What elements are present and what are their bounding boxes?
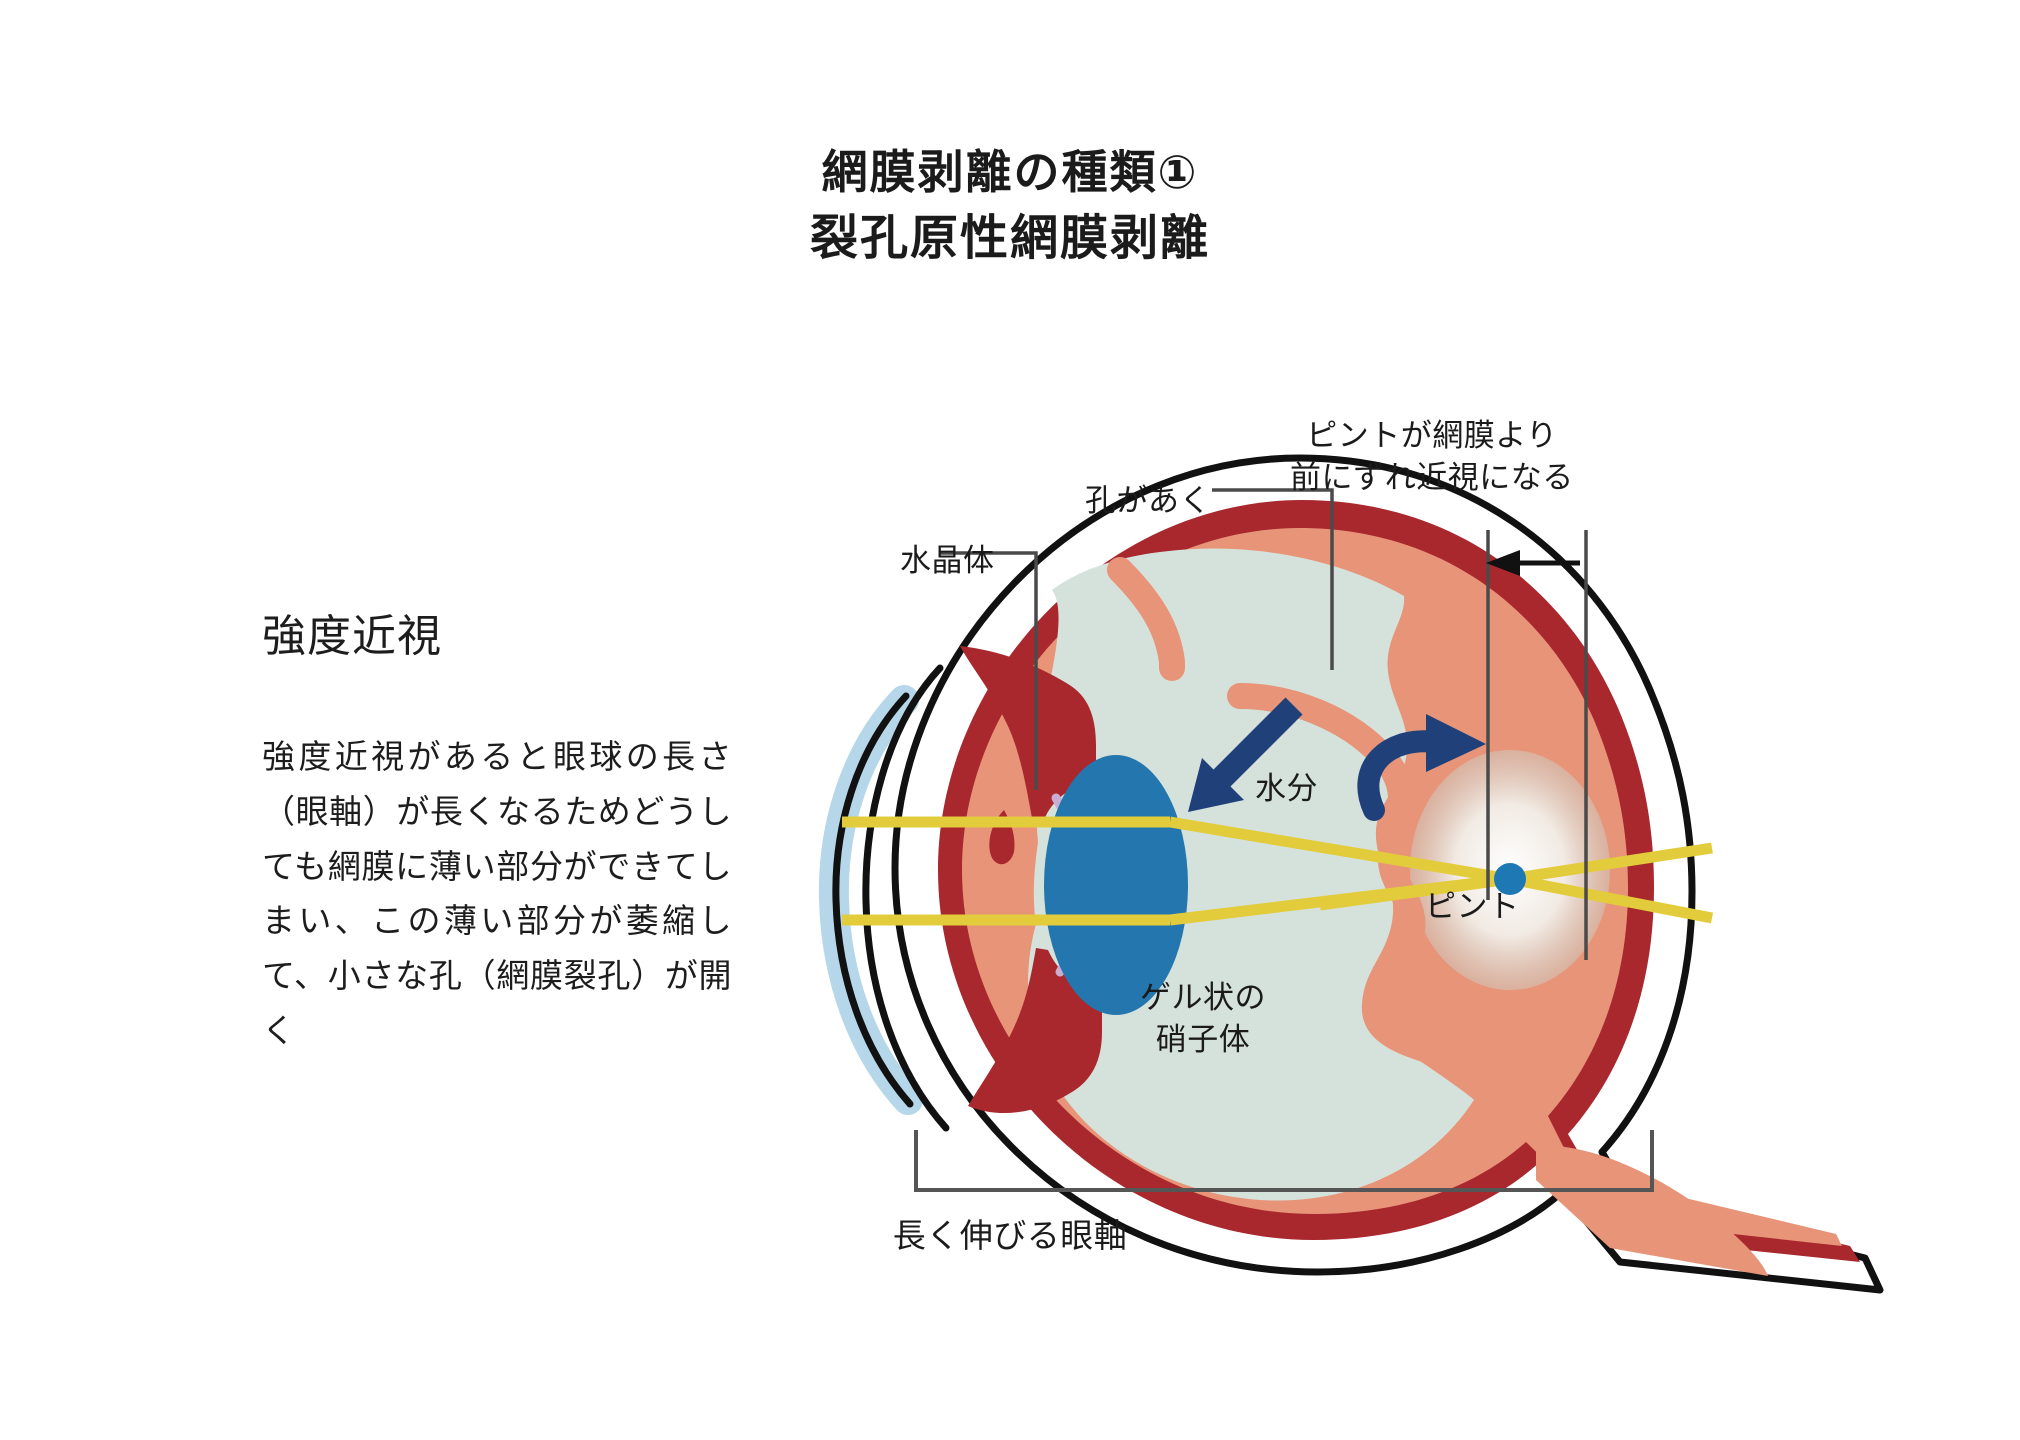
label-vitreous-line1: ゲル状の bbox=[1140, 977, 1266, 1019]
explanation-body: 強度近視があると眼球の長さ（眼軸）が長くなるためどうしても網膜に薄い部分ができて… bbox=[262, 730, 732, 1059]
label-focus-shift: ピントが網膜より 前にずれ近視になる bbox=[1290, 415, 1574, 499]
label-vitreous: ゲル状の 硝子体 bbox=[1140, 977, 1266, 1060]
lens bbox=[1044, 755, 1188, 1015]
explanation-heading: 強度近視 bbox=[262, 600, 732, 664]
title-line-1: 網膜剥離の種類① bbox=[0, 140, 2020, 205]
label-vitreous-line2: 硝子体 bbox=[1140, 1019, 1266, 1061]
label-lens: 水晶体 bbox=[900, 540, 995, 582]
label-retinal-hole: 孔があく bbox=[1085, 480, 1211, 522]
eye-anatomy-diagram bbox=[820, 400, 1980, 1300]
label-focus-shift-line1: ピントが網膜より bbox=[1290, 415, 1574, 457]
page-title: 網膜剥離の種類① 裂孔原性網膜剥離 bbox=[0, 140, 2020, 273]
label-focus-point: ピント bbox=[1425, 886, 1520, 928]
explanation-panel: 強度近視 強度近視があると眼球の長さ（眼軸）が長くなるためどうしても網膜に薄い部… bbox=[262, 600, 732, 1059]
label-water: 水分 bbox=[1255, 768, 1318, 810]
title-line-2: 裂孔原性網膜剥離 bbox=[0, 205, 2020, 273]
page-root: 網膜剥離の種類① 裂孔原性網膜剥離 強度近視 強度近視があると眼球の長さ（眼軸）… bbox=[0, 0, 2020, 1440]
label-axial-length-text: 長く伸びる眼軸 bbox=[893, 1214, 1128, 1258]
label-focus-shift-line2: 前にずれ近視になる bbox=[1290, 457, 1574, 499]
label-axial-length: 長く伸びる眼軸 bbox=[0, 1214, 2020, 1258]
